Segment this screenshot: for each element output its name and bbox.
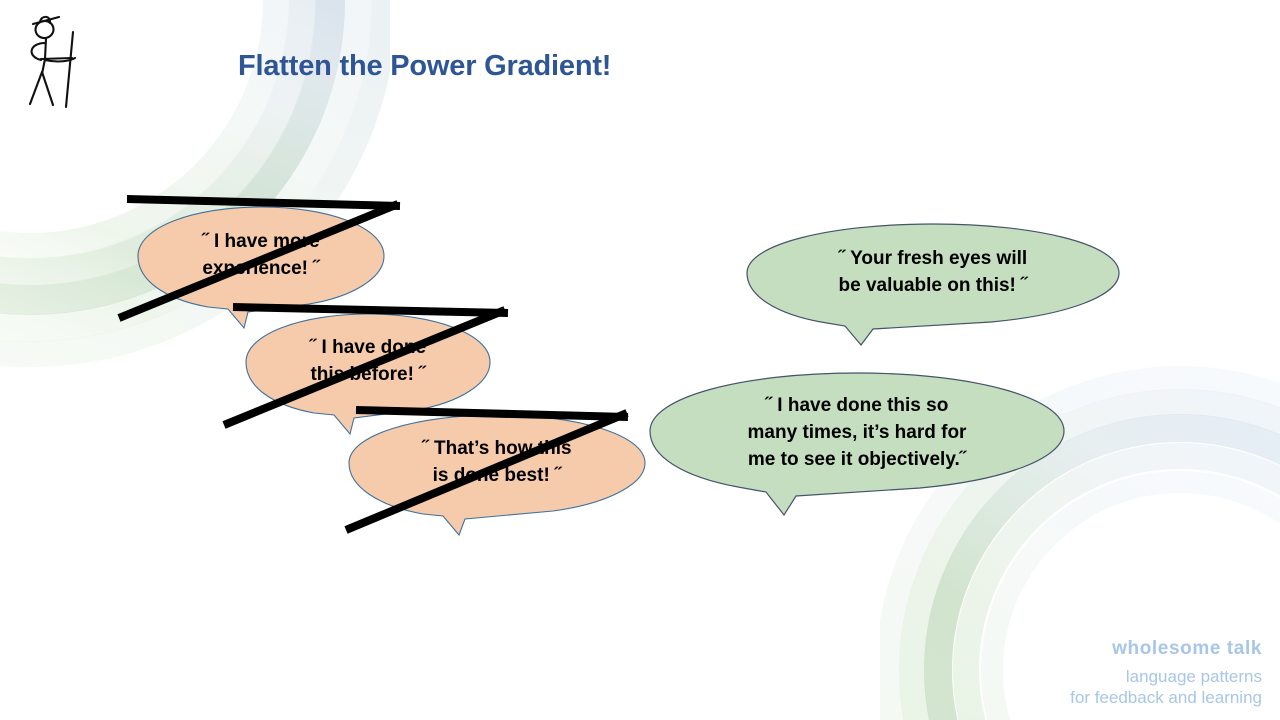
- speech-bubble-positive-1[interactable]: ˝ Your fresh eyes will be valuable on th…: [745, 222, 1121, 347]
- strikethrough-marks-overlay: [0, 0, 1280, 720]
- stick-figure-logo-icon: [20, 12, 92, 110]
- speech-bubble-shape: [347, 413, 647, 537]
- speech-bubble-shape: [648, 371, 1066, 517]
- branding-block: wholesome talk language patterns for fee…: [1070, 638, 1262, 709]
- brand-name: wholesome talk: [1070, 638, 1262, 660]
- brand-tagline-line-1: language patterns: [1070, 666, 1262, 687]
- page-title: Flatten the Power Gradient!: [238, 50, 611, 83]
- slide-canvas: Flatten the Power Gradient! ˝ I have mor…: [0, 0, 1280, 720]
- speech-bubble-shape: [745, 222, 1121, 347]
- speech-bubble-negative-3[interactable]: ˝ That’s how this is done best! ˝: [347, 413, 647, 537]
- brand-tagline-line-2: for feedback and learning: [1070, 687, 1262, 708]
- speech-bubble-positive-2[interactable]: ˝ I have done this so many times, it’s h…: [648, 371, 1066, 517]
